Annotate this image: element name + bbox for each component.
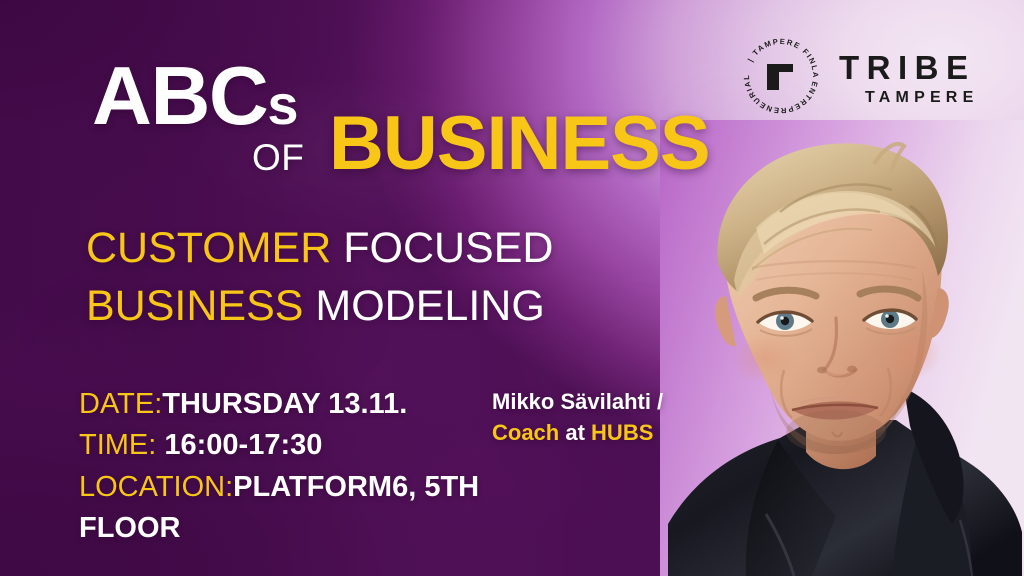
event-poster: | TAMPERE FINLAND | ENTREPRENEURIAL COMM… bbox=[0, 0, 1024, 576]
speaker-role: Coach bbox=[492, 420, 559, 445]
headline-abc-main: ABC bbox=[92, 49, 267, 142]
subtitle-line-1-highlight: CUSTOMER bbox=[86, 224, 331, 272]
logo-wordmark-secondary: TAMPERE bbox=[865, 90, 978, 106]
headline-of: OF bbox=[252, 139, 304, 176]
subtitle-line-2-rest: MODELING bbox=[303, 282, 544, 330]
speaker-credit-block: Mikko Sävilahti / Coach at HUBS bbox=[492, 386, 732, 448]
subtitle-line-1: CUSTOMER FOCUSED bbox=[86, 219, 706, 277]
headline-abcs: ABCs bbox=[92, 54, 297, 137]
detail-value-date: THURSDAY 13.11. bbox=[162, 388, 407, 420]
tribe-circular-badge-icon: | TAMPERE FINLAND | ENTREPRENEURIAL COMM… bbox=[737, 32, 825, 120]
detail-label-location: LOCATION: bbox=[79, 471, 233, 503]
subtitle-line-1-rest: FOCUSED bbox=[331, 224, 553, 272]
subtitle-block: CUSTOMER FOCUSED BUSINESS MODELING bbox=[86, 219, 706, 335]
speaker-portrait-photo bbox=[660, 120, 1024, 576]
subtitle-line-2: BUSINESS MODELING bbox=[86, 277, 706, 335]
speaker-connector: at bbox=[559, 420, 591, 445]
headline-block: ABCs OF BUSINESS bbox=[92, 54, 732, 184]
logo-wordmark: TRIBE TAMPERE bbox=[839, 47, 978, 106]
detail-label-time: TIME: bbox=[79, 429, 164, 461]
event-details-block: DATE:THURSDAY 13.11. TIME: 16:00-17:30 L… bbox=[79, 384, 499, 550]
detail-row-time: TIME: 16:00-17:30 bbox=[79, 425, 499, 466]
tribe-tampere-logo: | TAMPERE FINLAND | ENTREPRENEURIAL COMM… bbox=[737, 30, 977, 122]
detail-row-date: DATE:THURSDAY 13.11. bbox=[79, 384, 499, 425]
logo-wordmark-primary: TRIBE bbox=[839, 51, 976, 84]
detail-value-time: 16:00-17:30 bbox=[164, 429, 322, 461]
detail-label-date: DATE: bbox=[79, 388, 162, 420]
headline-abc-small-s: s bbox=[267, 73, 297, 136]
headline-business: BUSINESS bbox=[329, 106, 710, 182]
subtitle-line-2-highlight: BUSINESS bbox=[86, 282, 303, 330]
speaker-name-line: Mikko Sävilahti / bbox=[492, 386, 732, 417]
detail-row-location: LOCATION:PLATFORM6, 5TH FLOOR bbox=[79, 467, 499, 550]
speaker-organization: HUBS bbox=[591, 420, 653, 445]
speaker-role-line: Coach at HUBS bbox=[492, 417, 732, 448]
